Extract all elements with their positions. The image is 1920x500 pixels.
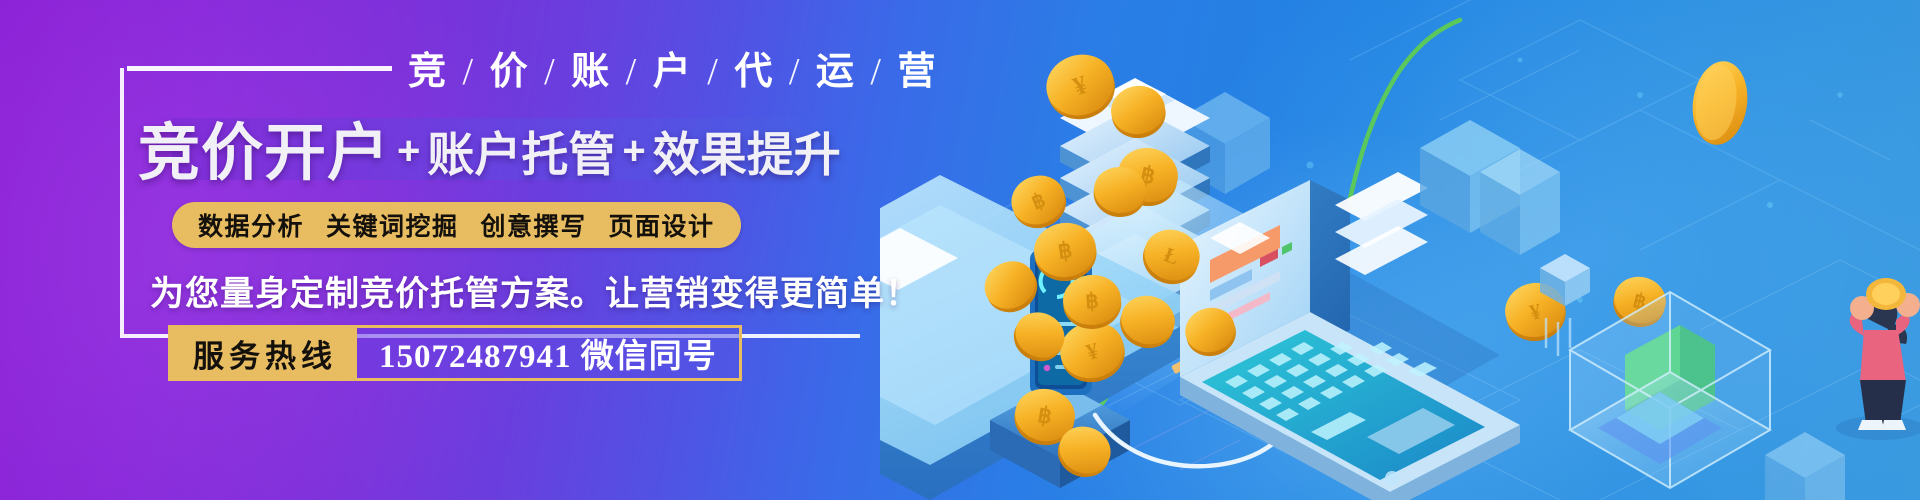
- glass-box: [1570, 292, 1770, 488]
- feature-pill: 数据分析 关键词挖掘 创意撰写 页面设计: [172, 202, 741, 248]
- kicker-rule: [127, 66, 392, 71]
- headline: 竞价开户 + 账户托管 + 效果提升: [138, 104, 878, 190]
- feature-item-1: 关键词挖掘: [326, 207, 459, 243]
- kicker-sep-4: /: [786, 51, 805, 93]
- headline-plus-1: +: [390, 129, 427, 174]
- kicker-char-2: 账: [571, 51, 611, 93]
- feature-item-3: 页面设计: [609, 207, 715, 243]
- headline-part-1: 竞价开户: [138, 102, 390, 192]
- hotline-bar: 服务热线 15072487941 微信同号: [168, 325, 742, 381]
- svg-text:฿: ฿: [1085, 289, 1100, 314]
- headline-part-3: 效果提升: [653, 116, 841, 185]
- kicker-char-4: 代: [734, 51, 774, 93]
- kicker-text: 竞 / 价 / 账 / 户 / 代 / 运 / 营: [408, 40, 937, 95]
- kicker-sep-1: /: [541, 51, 560, 93]
- kicker-char-0: 竞: [408, 51, 448, 93]
- hotline-number[interactable]: 15072487941 微信同号: [357, 325, 742, 381]
- feature-item-2: 创意撰写: [481, 207, 587, 243]
- kicker-sep-0: /: [460, 51, 479, 93]
- kicker-char-1: 价: [490, 51, 530, 93]
- tagline: 为您量身定制竞价托管方案。让营销变得更简单！: [150, 266, 920, 315]
- kicker-char-6: 营: [897, 51, 937, 93]
- kicker-sep-5: /: [867, 51, 886, 93]
- headline-part-2: 账户托管: [427, 116, 615, 185]
- kicker-char-5: 运: [816, 51, 856, 93]
- feature-item-0: 数据分析: [198, 207, 304, 243]
- hotline-label: 服务热线: [168, 325, 357, 381]
- kicker-sep-2: /: [623, 51, 642, 93]
- headline-plus-2: +: [615, 129, 652, 174]
- kicker-sep-3: /: [704, 51, 723, 93]
- promo-banner: ¥ ฿ ฿ Ł ¥: [0, 0, 1920, 500]
- isometric-illustration: ¥ ฿ ฿ Ł ¥: [880, 0, 1920, 500]
- kicker-char-3: 户: [653, 51, 693, 93]
- banner-text-content: 竞 / 价 / 账 / 户 / 代 / 运 / 营 竞价开户 + 账户托管 + …: [0, 0, 960, 500]
- person-figure: [1836, 278, 1920, 440]
